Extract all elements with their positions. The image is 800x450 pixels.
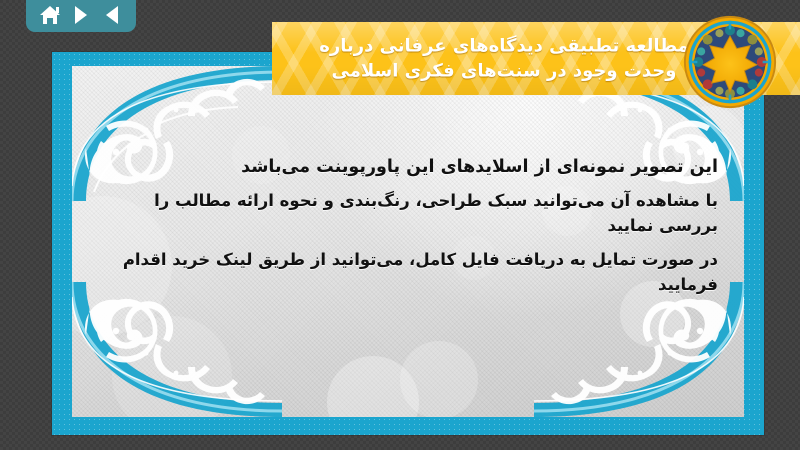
- slide-body-text: این تصویر نمونه‌ای از اسلایدهای این پاور…: [112, 154, 718, 306]
- slide-text-line-1: این تصویر نمونه‌ای از اسلایدهای این پاور…: [112, 154, 718, 180]
- slide-preview-stage: مطالعه تطبیقی دیدگاه‌های عرفانی درباره و…: [0, 0, 800, 450]
- slide-text-line-3: در صورت تمایل به دریافت فایل کامل، می‌تو…: [112, 248, 718, 298]
- islamic-rosette-medallion-icon: [682, 14, 778, 110]
- home-button[interactable]: [37, 3, 63, 27]
- home-icon: [40, 6, 60, 24]
- page-title: مطالعه تطبیقی دیدگاه‌های عرفانی درباره و…: [304, 33, 704, 84]
- arrow-left-icon: [106, 6, 118, 24]
- arrow-right-icon: [75, 6, 87, 24]
- bokeh-circle: [400, 341, 478, 417]
- slide-text-line-2: با مشاهده آن می‌توانید سبک طراحی، رنگ‌بن…: [112, 189, 718, 239]
- next-slide-button[interactable]: [68, 3, 94, 27]
- slide-canvas: این تصویر نمونه‌ای از اسلایدهای این پاور…: [72, 66, 744, 417]
- previous-slide-button[interactable]: [99, 3, 125, 27]
- navigation-bar: [26, 0, 136, 32]
- slide-frame: این تصویر نمونه‌ای از اسلایدهای این پاور…: [52, 52, 764, 435]
